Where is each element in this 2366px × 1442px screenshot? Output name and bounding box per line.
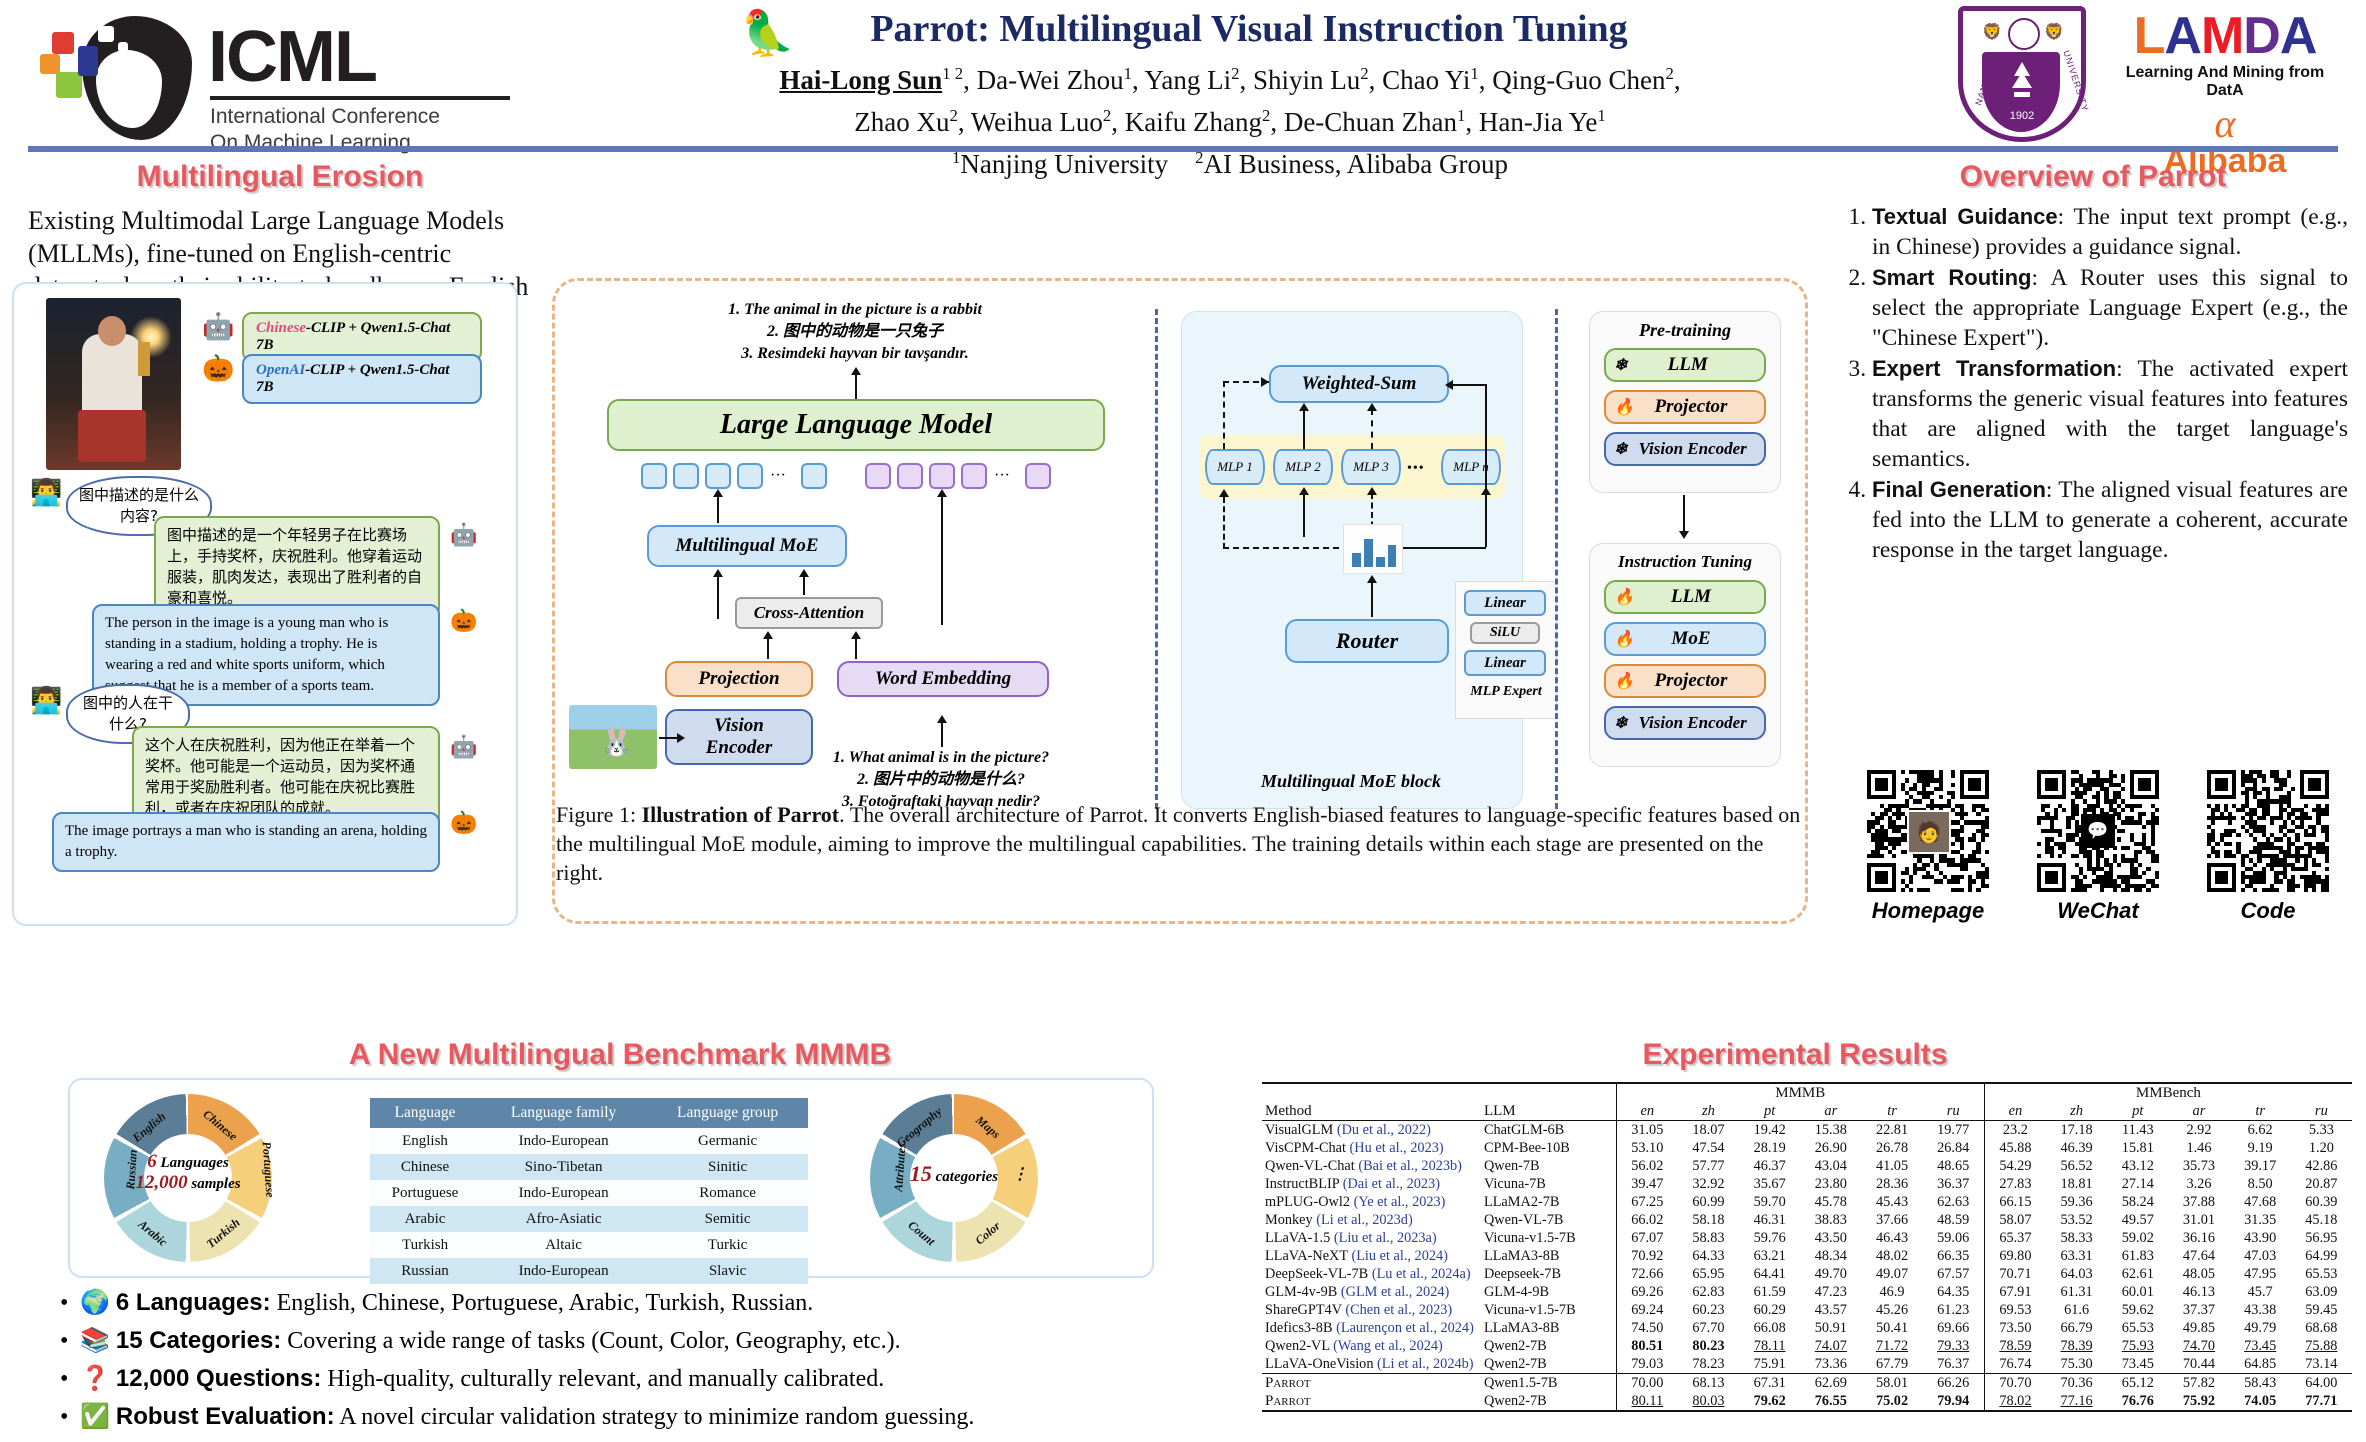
figure-caption-prefix: Figure 1: xyxy=(556,802,642,827)
method-name: InstructBLIP xyxy=(1265,1176,1339,1192)
cell-group: Sinitic xyxy=(647,1154,808,1180)
cell-mmmb-tr: 49.07 xyxy=(1861,1265,1922,1283)
lamda-wordmark: LAMDA xyxy=(2110,10,2340,62)
instruction-row-moe: 🔥MoE xyxy=(1604,622,1766,656)
cell-mmbench-ar: 3.26 xyxy=(2168,1175,2229,1193)
method-name: GLM-4v-9B xyxy=(1265,1284,1337,1300)
method-citation: (Dai et al., 2023) xyxy=(1343,1176,1440,1192)
bullet-text-questions: High-quality, culturally relevant, and m… xyxy=(321,1366,884,1392)
lead-author-affil: 1 2 xyxy=(942,64,963,83)
results-group-header-row: MMMB MMBench xyxy=(1262,1083,2352,1102)
cell-llm: Vicuna-v1.5-7B xyxy=(1476,1301,1616,1319)
cell-mmbench-tr: 64.85 xyxy=(2230,1355,2291,1374)
spacer-llm xyxy=(1476,1083,1616,1102)
bullet-categories: • 📚 15 Categories: Covering a wide range… xyxy=(60,1324,1250,1358)
text-token-2 xyxy=(897,463,923,489)
robot-icon-2: 🤖 xyxy=(450,736,477,758)
cell-mmmb-zh: 32.92 xyxy=(1678,1175,1739,1193)
cell-mmbench-zh: 17.18 xyxy=(2046,1121,2107,1140)
pretraining-row-vision-encoder: ❄Vision Encoder xyxy=(1604,432,1766,466)
cell-mmbench-en: 58.07 xyxy=(1984,1211,2046,1229)
fire-icon-moe-instruct: 🔥 xyxy=(1614,629,1634,649)
cell-llm: LLaMA3-8B xyxy=(1476,1247,1616,1265)
cell-mmmb-tr: 26.78 xyxy=(1861,1139,1922,1157)
node-multilingual-moe: Multilingual MoE xyxy=(647,525,847,567)
cell-mmbench-ar: 2.92 xyxy=(2168,1121,2229,1140)
cell-mmbench-ar: 1.46 xyxy=(2168,1139,2229,1157)
cell-mmbench-zh: 61.6 xyxy=(2046,1301,2107,1319)
method-name: LLaVA-OneVision xyxy=(1265,1356,1373,1372)
legend-tag-openai-clip: OpenAI-CLIP + Qwen1.5-Chat 7B xyxy=(242,354,482,404)
cell-method: VisualGLM (Du et al., 2022) xyxy=(1262,1121,1476,1140)
cell-mmbench-zh: 78.39 xyxy=(2046,1337,2107,1355)
expert-mlp-3: MLP 3 xyxy=(1341,449,1401,485)
instruction-row-vision-encoder: ❄Vision Encoder xyxy=(1604,706,1766,740)
trophy-shape xyxy=(138,342,150,376)
cell-mmbench-ru: 63.09 xyxy=(2291,1283,2352,1301)
cell-mmbench-ru: 42.86 xyxy=(2291,1157,2352,1175)
expert-silu: SiLU xyxy=(1470,622,1540,644)
arrow-projection-to-crossattn xyxy=(767,637,769,659)
cell-family: Indo-European xyxy=(480,1258,647,1284)
erosion-demo-card: 🤖 Chinese-CLIP + Qwen1.5-Chat 7B 🎃 OpenA… xyxy=(12,282,518,926)
cell-mmmb-tr: 58.01 xyxy=(1861,1374,1922,1393)
header-mmmb-ar: ar xyxy=(1800,1102,1861,1121)
cell-mmbench-tr: 39.17 xyxy=(2230,1157,2291,1175)
cell-mmmb-tr: 71.72 xyxy=(1861,1337,1922,1355)
table-row: ChineseSino-TibetanSinitic xyxy=(370,1154,808,1180)
cell-group: Germanic xyxy=(647,1128,808,1154)
group-header-mmbench: MMBench xyxy=(1984,1083,2352,1102)
cell-mmbench-tr: 45.7 xyxy=(2230,1283,2291,1301)
cell-mmmb-ar: 62.69 xyxy=(1800,1374,1861,1393)
robot-icon-legend: 🤖 xyxy=(202,314,234,340)
overview-item-1: Textual Guidance: The input text prompt … xyxy=(1872,202,2348,262)
cell-mmbench-pt: 11.43 xyxy=(2107,1121,2168,1140)
cell-mmmb-ar: 38.83 xyxy=(1800,1211,1861,1229)
figure-caption: Figure 1: Illustration of Parrot. The ov… xyxy=(556,800,1804,887)
cell-mmbench-en: 66.15 xyxy=(1984,1193,2046,1211)
bullet-text-evaluation: A novel circular validation strategy to … xyxy=(335,1404,975,1430)
expert-mlp-2: MLP 2 xyxy=(1273,449,1333,485)
cell-mmmb-zh: 18.07 xyxy=(1678,1121,1739,1140)
cell-mmmb-zh: 80.23 xyxy=(1678,1337,1739,1355)
cell-mmmb-en: 80.11 xyxy=(1616,1392,1678,1411)
cell-mmbench-tr: 47.68 xyxy=(2230,1193,2291,1211)
cell-mmbench-ar: 75.92 xyxy=(2168,1392,2229,1411)
cell-mmmb-en: 72.66 xyxy=(1616,1265,1678,1283)
arrowhead-wordembed-to-crossattn xyxy=(851,631,861,639)
cell-mmmb-pt: 28.19 xyxy=(1739,1139,1800,1157)
arrowhead-input-to-wordembed xyxy=(937,715,947,723)
language-family-table: Language Language family Language group … xyxy=(370,1098,808,1284)
cell-mmmb-zh: 60.99 xyxy=(1678,1193,1739,1211)
cell-mmbench-ar: 48.05 xyxy=(2168,1265,2229,1283)
icml-subtitle-line-1: International Conference xyxy=(210,104,518,130)
pumpkin-icon-1: 🎃 xyxy=(450,610,477,632)
homepage-qr-code[interactable]: 🧑 xyxy=(1867,770,1989,892)
cell-mmbench-zh: 56.52 xyxy=(2046,1157,2107,1175)
cell-mmmb-tr: 48.02 xyxy=(1861,1247,1922,1265)
wechat-qr-code[interactable]: 💬 xyxy=(2037,770,2159,892)
right-column: Overview of Parrot Textual Guidance: The… xyxy=(1838,160,2348,566)
cell-mmbench-pt: 49.57 xyxy=(2107,1211,2168,1229)
table-row: mPLUG-Owl2 (Ye et al., 2023)LLaMA2-7B67.… xyxy=(1262,1193,2352,1211)
arrowhead-mlpn-weightedsum xyxy=(1445,380,1453,390)
cell-mmmb-tr: 41.05 xyxy=(1861,1157,1922,1175)
arrowhead-image-to-encoder xyxy=(677,733,685,743)
cell-mmmb-tr: 45.43 xyxy=(1861,1193,1922,1211)
cell-llm: Qwen-VL-7B xyxy=(1476,1211,1616,1229)
cell-mmbench-ru: 75.88 xyxy=(2291,1337,2352,1355)
cell-mmbench-ar: 74.70 xyxy=(2168,1337,2229,1355)
table-row: Qwen2-VL (Wang et al., 2024)Qwen2-7B80.5… xyxy=(1262,1337,2352,1355)
cell-mmmb-ar: 50.91 xyxy=(1800,1319,1861,1337)
books-icon: 📚 xyxy=(80,1328,110,1354)
nju-globe-icon xyxy=(2008,18,2040,50)
bullet-evaluation: • ✅ Robust Evaluation: A novel circular … xyxy=(60,1400,1250,1434)
pumpkin-icon-2: 🎃 xyxy=(450,812,477,834)
cell-mmmb-pt: 67.31 xyxy=(1739,1374,1800,1393)
header-divider xyxy=(28,146,2338,152)
cell-mmmb-tr: 50.41 xyxy=(1861,1319,1922,1337)
cell-mmmb-ar: 43.50 xyxy=(1800,1229,1861,1247)
cell-mmmb-ar: 23.80 xyxy=(1800,1175,1861,1193)
cell-mmmb-en: 31.05 xyxy=(1616,1121,1678,1140)
cell-mmmb-en: 67.07 xyxy=(1616,1229,1678,1247)
cell-mmbench-pt: 27.14 xyxy=(2107,1175,2168,1193)
cell-mmmb-zh: 78.23 xyxy=(1678,1355,1739,1374)
cell-method: Qwen-VL-Chat (Bai et al., 2023b) xyxy=(1262,1157,1476,1175)
samples-count: 12,000 xyxy=(135,1172,187,1193)
moe-block-caption: Multilingual MoE block xyxy=(1181,771,1521,792)
cell-family: Indo-European xyxy=(480,1180,647,1206)
icml-logo: ICML International Conference On Machine… xyxy=(30,8,520,143)
table-row: ShareGPT4V (Chen et al., 2023)Vicuna-v1.… xyxy=(1262,1301,2352,1319)
cell-mmbench-ru: 45.18 xyxy=(2291,1211,2352,1229)
arrow-wordembed-to-crossattn xyxy=(855,637,857,659)
cell-mmmb-pt: 64.41 xyxy=(1739,1265,1800,1283)
bullet-questions: • ❓ 12,000 Questions: High-quality, cult… xyxy=(60,1362,1250,1396)
table-row: EnglishIndo-EuropeanGermanic xyxy=(370,1128,808,1154)
method-citation: (Liu et al., 2024) xyxy=(1351,1248,1447,1264)
cell-mmbench-ru: 60.39 xyxy=(2291,1193,2352,1211)
cell-mmmb-pt: 19.42 xyxy=(1739,1121,1800,1140)
cell-mmmb-pt: 75.91 xyxy=(1739,1355,1800,1374)
cell-mmbench-ar: 31.01 xyxy=(2168,1211,2229,1229)
fire-icon-projector-instruct: 🔥 xyxy=(1614,671,1634,691)
cell-llm: Qwen2-7B xyxy=(1476,1355,1616,1374)
cell-mmbench-ar: 36.16 xyxy=(2168,1229,2229,1247)
pumpkin-icon-legend: 🎃 xyxy=(202,356,234,382)
chat-blue-answer-2: The image portrays a man who is standing… xyxy=(52,812,440,872)
cell-mmbench-ru: 64.99 xyxy=(2291,1247,2352,1265)
donut-segment-russian: Russian xyxy=(123,1149,141,1190)
poster-header: ICML International Conference On Machine… xyxy=(0,0,2366,150)
node-router: Router xyxy=(1285,619,1449,663)
cell-mmmb-en: 56.02 xyxy=(1616,1157,1678,1175)
arrowhead-crossattn-to-moe xyxy=(799,569,809,577)
cell-mmmb-ru: 19.77 xyxy=(1923,1121,1985,1140)
table-row: Qwen-VL-Chat (Bai et al., 2023b)Qwen-7B5… xyxy=(1262,1157,2352,1175)
header-mmbench-en: en xyxy=(1984,1102,2046,1121)
cell-mmmb-pt: 61.59 xyxy=(1739,1283,1800,1301)
qr-label-wechat: WeChat xyxy=(2028,898,2168,924)
header-method: Method xyxy=(1262,1102,1476,1121)
cell-mmmb-en: 69.26 xyxy=(1616,1283,1678,1301)
cell-llm: Deepseek-7B xyxy=(1476,1265,1616,1283)
cell-mmbench-ar: 37.37 xyxy=(2168,1301,2229,1319)
cell-mmmb-en: 79.03 xyxy=(1616,1355,1678,1374)
cell-mmbench-zh: 46.39 xyxy=(2046,1139,2107,1157)
header-mmmb-ru: ru xyxy=(1923,1102,1985,1121)
cell-mmmb-ar: 73.36 xyxy=(1800,1355,1861,1374)
icml-square-red xyxy=(52,32,74,54)
cell-mmmb-ru: 69.66 xyxy=(1923,1319,1985,1337)
arrow-input-to-wordembed xyxy=(941,721,943,747)
snowflake-icon-llm-pretrain: ❄ xyxy=(1614,355,1627,375)
cell-mmbench-ru: 5.33 xyxy=(2291,1121,2352,1140)
table-row: ParrotQwen1.5-7B70.0068.1367.3162.6958.0… xyxy=(1262,1374,2352,1393)
qr-item-homepage[interactable]: 🧑 Homepage xyxy=(1858,770,1998,924)
cell-mmbench-ru: 56.95 xyxy=(2291,1229,2352,1247)
benchmark-bullet-list: • 🌍 6 Languages: English, Chinese, Portu… xyxy=(60,1286,1250,1438)
arrow-projection-to-moe xyxy=(717,575,719,619)
cell-mmmb-ar: 43.57 xyxy=(1800,1301,1861,1319)
cell-mmbench-tr: 43.38 xyxy=(2230,1301,2291,1319)
question-mark-icon: ❓ xyxy=(80,1366,110,1392)
user-icon-1: 👨‍💻 xyxy=(30,480,62,506)
cell-mmmb-en: 70.00 xyxy=(1616,1374,1678,1393)
icml-logo-mark xyxy=(40,14,200,142)
legend-tag-openai-prefix: OpenAI xyxy=(256,362,305,378)
method-name: LLaVA-NeXT xyxy=(1265,1248,1348,1264)
nanjing-university-logo: 🦁 🦁 1902 NANJING UNIVERSITY xyxy=(1958,4,2088,144)
icml-square-white-3 xyxy=(110,62,122,76)
vision-encoder-line-2: Encoder xyxy=(706,737,773,759)
cell-method: LLaVA-NeXT (Liu et al., 2024) xyxy=(1262,1247,1476,1265)
cell-mmbench-tr: 74.05 xyxy=(2230,1392,2291,1411)
cell-mmbench-zh: 58.33 xyxy=(2046,1229,2107,1247)
method-citation: (Hu et al., 2023) xyxy=(1350,1140,1444,1156)
cell-llm: GLM-4-9B xyxy=(1476,1283,1616,1301)
cell-mmmb-pt: 66.08 xyxy=(1739,1319,1800,1337)
overview-item-4: Final Generation: The aligned visual fea… xyxy=(1872,475,2348,565)
cell-mmbench-en: 76.74 xyxy=(1984,1355,2046,1374)
cell-method: Parrot xyxy=(1262,1392,1476,1411)
table-row: DeepSeek-VL-7B (Lu et al., 2024a)Deepsee… xyxy=(1262,1265,2352,1283)
qr-item-wechat[interactable]: 💬 WeChat xyxy=(2028,770,2168,924)
method-citation: (Laurençon et al., 2024) xyxy=(1336,1320,1474,1336)
globe-icon: 🌍 xyxy=(80,1290,110,1316)
cell-mmmb-tr: 46.43 xyxy=(1861,1229,1922,1247)
cell-mmmb-tr: 45.26 xyxy=(1861,1301,1922,1319)
cell-method: Parrot xyxy=(1262,1374,1476,1393)
cell-llm: Qwen2-7B xyxy=(1476,1337,1616,1355)
method-citation: (Lu et al., 2024a) xyxy=(1372,1266,1471,1282)
benchmark-card: 6 Languages 12,000 samples English Chine… xyxy=(68,1078,1154,1278)
bullet-text-languages: English, Chinese, Portuguese, Arabic, Tu… xyxy=(271,1290,814,1316)
edge-router-mlp1-v xyxy=(1223,497,1225,549)
cell-group: Romance xyxy=(647,1180,808,1206)
cell-mmbench-en: 70.71 xyxy=(1984,1265,2046,1283)
cell-mmbench-pt: 59.02 xyxy=(2107,1229,2168,1247)
table-row: Idefics3-8B (Laurençon et al., 2024)LLaM… xyxy=(1262,1319,2352,1337)
icml-wordmark: ICML International Conference On Machine… xyxy=(208,20,518,156)
edge-router-mlp2 xyxy=(1303,493,1305,537)
table-row: PortugueseIndo-EuropeanRomance xyxy=(370,1180,808,1206)
cell-mmmb-tr: 28.36 xyxy=(1861,1175,1922,1193)
cell-mmmb-tr: 67.79 xyxy=(1861,1355,1922,1374)
cell-mmmb-ru: 64.35 xyxy=(1923,1283,1985,1301)
cell-mmbench-zh: 59.36 xyxy=(2046,1193,2107,1211)
instruction-llm-label: LLM xyxy=(1644,586,1764,608)
author-list: Hai-Long Sun1 2, Da-Wei Zhou1, Yang Li2,… xyxy=(700,56,1760,140)
language-table-header-row: Language Language family Language group xyxy=(370,1098,808,1128)
col-language: Language xyxy=(370,1098,480,1128)
cell-mmbench-pt: 73.45 xyxy=(2107,1355,2168,1374)
cell-mmbench-en: 54.29 xyxy=(1984,1157,2046,1175)
edge-mlp2-weightedsum xyxy=(1303,409,1305,449)
cell-mmmb-zh: 65.95 xyxy=(1678,1265,1739,1283)
edge-mlp3-weightedsum xyxy=(1371,409,1373,449)
arrowhead-projection-to-crossattn xyxy=(763,631,773,639)
cell-mmmb-pt: 63.21 xyxy=(1739,1247,1800,1265)
cell-mmbench-tr: 31.35 xyxy=(2230,1211,2291,1229)
header-mmbench-tr: tr xyxy=(2230,1102,2291,1121)
cell-language: Russian xyxy=(370,1258,480,1284)
node-large-language-model: Large Language Model xyxy=(607,399,1105,451)
results-section-header: Experimental Results xyxy=(1250,1038,2340,1072)
cell-mmmb-zh: 57.77 xyxy=(1678,1157,1739,1175)
results-table-body: VisualGLM (Du et al., 2022)ChatGLM-6B31.… xyxy=(1262,1121,2352,1412)
stage-instruction-title: Instruction Tuning xyxy=(1590,552,1780,572)
cell-mmmb-ru: 62.63 xyxy=(1923,1193,1985,1211)
cell-mmbench-zh: 61.31 xyxy=(2046,1283,2107,1301)
cell-mmmb-ru: 26.84 xyxy=(1923,1139,1985,1157)
cell-mmbench-zh: 66.79 xyxy=(2046,1319,2107,1337)
figure-output-1: 1. The animal in the picture is a rabbit xyxy=(585,299,1125,321)
overview-item-2: Smart Routing: A Router uses this signal… xyxy=(1872,263,2348,353)
cell-llm: Qwen1.5-7B xyxy=(1476,1374,1616,1393)
affiliation-2: AI Business, Alibaba Group xyxy=(1204,149,1508,179)
method-citation: (Liu et al., 2023a) xyxy=(1334,1230,1437,1246)
visual-token-5 xyxy=(801,463,827,489)
title-block: 🦜 Parrot: Multilingual Visual Instructio… xyxy=(700,6,1760,181)
table-row: TurkishAltaicTurkic xyxy=(370,1232,808,1258)
cell-mmmb-ru: 66.26 xyxy=(1923,1374,1985,1393)
cell-llm: LLaMA3-8B xyxy=(1476,1319,1616,1337)
cell-mmbench-ar: 37.88 xyxy=(2168,1193,2229,1211)
cell-mmbench-tr: 43.90 xyxy=(2230,1229,2291,1247)
cell-mmbench-en: 23.2 xyxy=(1984,1121,2046,1140)
arrowhead-router-mlp3 xyxy=(1367,487,1377,495)
cell-mmmb-zh: 80.03 xyxy=(1678,1392,1739,1411)
overview-term-3: Expert Transformation xyxy=(1872,356,2116,381)
nju-tree-icon xyxy=(2008,60,2036,104)
languages-count: 6 xyxy=(147,1151,157,1172)
arrowhead-llm-to-output xyxy=(851,367,861,375)
edge-router-to-histogram xyxy=(1371,581,1373,617)
overview-list: Textual Guidance: The input text prompt … xyxy=(1838,202,2348,565)
pretraining-row-projector: 🔥Projector xyxy=(1604,390,1766,424)
cell-mmbench-ru: 59.45 xyxy=(2291,1301,2352,1319)
header-mmmb-pt: pt xyxy=(1739,1102,1800,1121)
cell-mmmb-en: 39.47 xyxy=(1616,1175,1678,1193)
table-row: InstructBLIP (Dai et al., 2023)Vicuna-7B… xyxy=(1262,1175,2352,1193)
mlp-expert-detail-panel: Linear SiLU Linear MLP Expert xyxy=(1455,581,1557,719)
table-row: ArabicAfro-AsiaticSemitic xyxy=(370,1206,808,1232)
cell-mmbench-ar: 70.44 xyxy=(2168,1355,2229,1374)
cell-mmmb-ru: 76.37 xyxy=(1923,1355,1985,1374)
cell-mmbench-en: 78.59 xyxy=(1984,1337,2046,1355)
method-citation: (Li et al., 2023d) xyxy=(1316,1212,1412,1228)
cell-group: Turkic xyxy=(647,1232,808,1258)
cell-family: Altaic xyxy=(480,1232,647,1258)
visual-token-1 xyxy=(641,463,667,489)
node-projection: Projection xyxy=(665,661,813,697)
cell-mmmb-en: 70.92 xyxy=(1616,1247,1678,1265)
overview-term-4: Final Generation xyxy=(1872,477,2046,502)
athlete-photo xyxy=(46,298,181,470)
header-mmmb-tr: tr xyxy=(1861,1102,1922,1121)
method-citation: (Li et al., 2024b) xyxy=(1377,1356,1473,1372)
cell-mmbench-en: 45.88 xyxy=(1984,1139,2046,1157)
node-weighted-sum: Weighted-Sum xyxy=(1269,365,1449,403)
code-qr-code[interactable] xyxy=(2207,770,2329,892)
cell-mmbench-ru: 20.87 xyxy=(2291,1175,2352,1193)
arrowhead-router-mlp2 xyxy=(1299,487,1309,495)
cell-llm: LLaMA2-7B xyxy=(1476,1193,1616,1211)
header-mmbench-ru: ru xyxy=(2291,1102,2352,1121)
categories-count: 15 xyxy=(910,1161,932,1186)
icml-subtitle-line-2: On Machine Learning xyxy=(210,130,518,156)
arrow-crossattn-to-moe xyxy=(803,575,805,595)
expert-linear-1: Linear xyxy=(1464,590,1546,616)
cell-mmbench-pt: 65.53 xyxy=(2107,1319,2168,1337)
arrowhead-wordembed-to-tokens xyxy=(937,489,947,497)
instruction-row-llm: 🔥LLM xyxy=(1604,580,1766,614)
method-name: Qwen2-VL xyxy=(1265,1338,1330,1354)
cell-mmbench-en: 65.37 xyxy=(1984,1229,2046,1247)
bullet-text-categories: Covering a wide range of tasks (Count, C… xyxy=(281,1328,900,1354)
cell-mmbench-pt: 59.62 xyxy=(2107,1301,2168,1319)
donut-segment-portuguese: Portuguese xyxy=(259,1141,278,1198)
cell-mmbench-ru: 64.00 xyxy=(2291,1374,2352,1393)
cell-mmmb-ar: 45.78 xyxy=(1800,1193,1861,1211)
cell-mmbench-zh: 64.03 xyxy=(2046,1265,2107,1283)
col-language-family: Language family xyxy=(480,1098,647,1128)
cell-mmmb-ar: 49.70 xyxy=(1800,1265,1861,1283)
results-subheader-row: Method LLM en zh pt ar tr ru en zh pt ar… xyxy=(1262,1102,2352,1121)
rabbit-icon: 🐰 xyxy=(599,725,634,759)
cell-mmbench-tr: 49.79 xyxy=(2230,1319,2291,1337)
cell-mmmb-en: 66.02 xyxy=(1616,1211,1678,1229)
arrowhead-router-to-histogram xyxy=(1367,575,1377,583)
qr-item-code[interactable]: Code xyxy=(2198,770,2338,924)
method-citation: (Bai et al., 2023b) xyxy=(1358,1158,1462,1174)
cell-mmbench-tr: 9.19 xyxy=(2230,1139,2291,1157)
arrowhead-router-mlpn xyxy=(1481,487,1491,495)
cell-language: Turkish xyxy=(370,1232,480,1258)
cell-mmbench-pt: 75.93 xyxy=(2107,1337,2168,1355)
user-icon-2: 👨‍💻 xyxy=(30,688,62,714)
donut-segment-turkish: Turkish xyxy=(204,1215,243,1251)
cell-mmmb-zh: 60.23 xyxy=(1678,1301,1739,1319)
cell-mmmb-zh: 47.54 xyxy=(1678,1139,1739,1157)
cell-mmmb-ar: 74.07 xyxy=(1800,1337,1861,1355)
method-name: Monkey xyxy=(1265,1212,1313,1228)
